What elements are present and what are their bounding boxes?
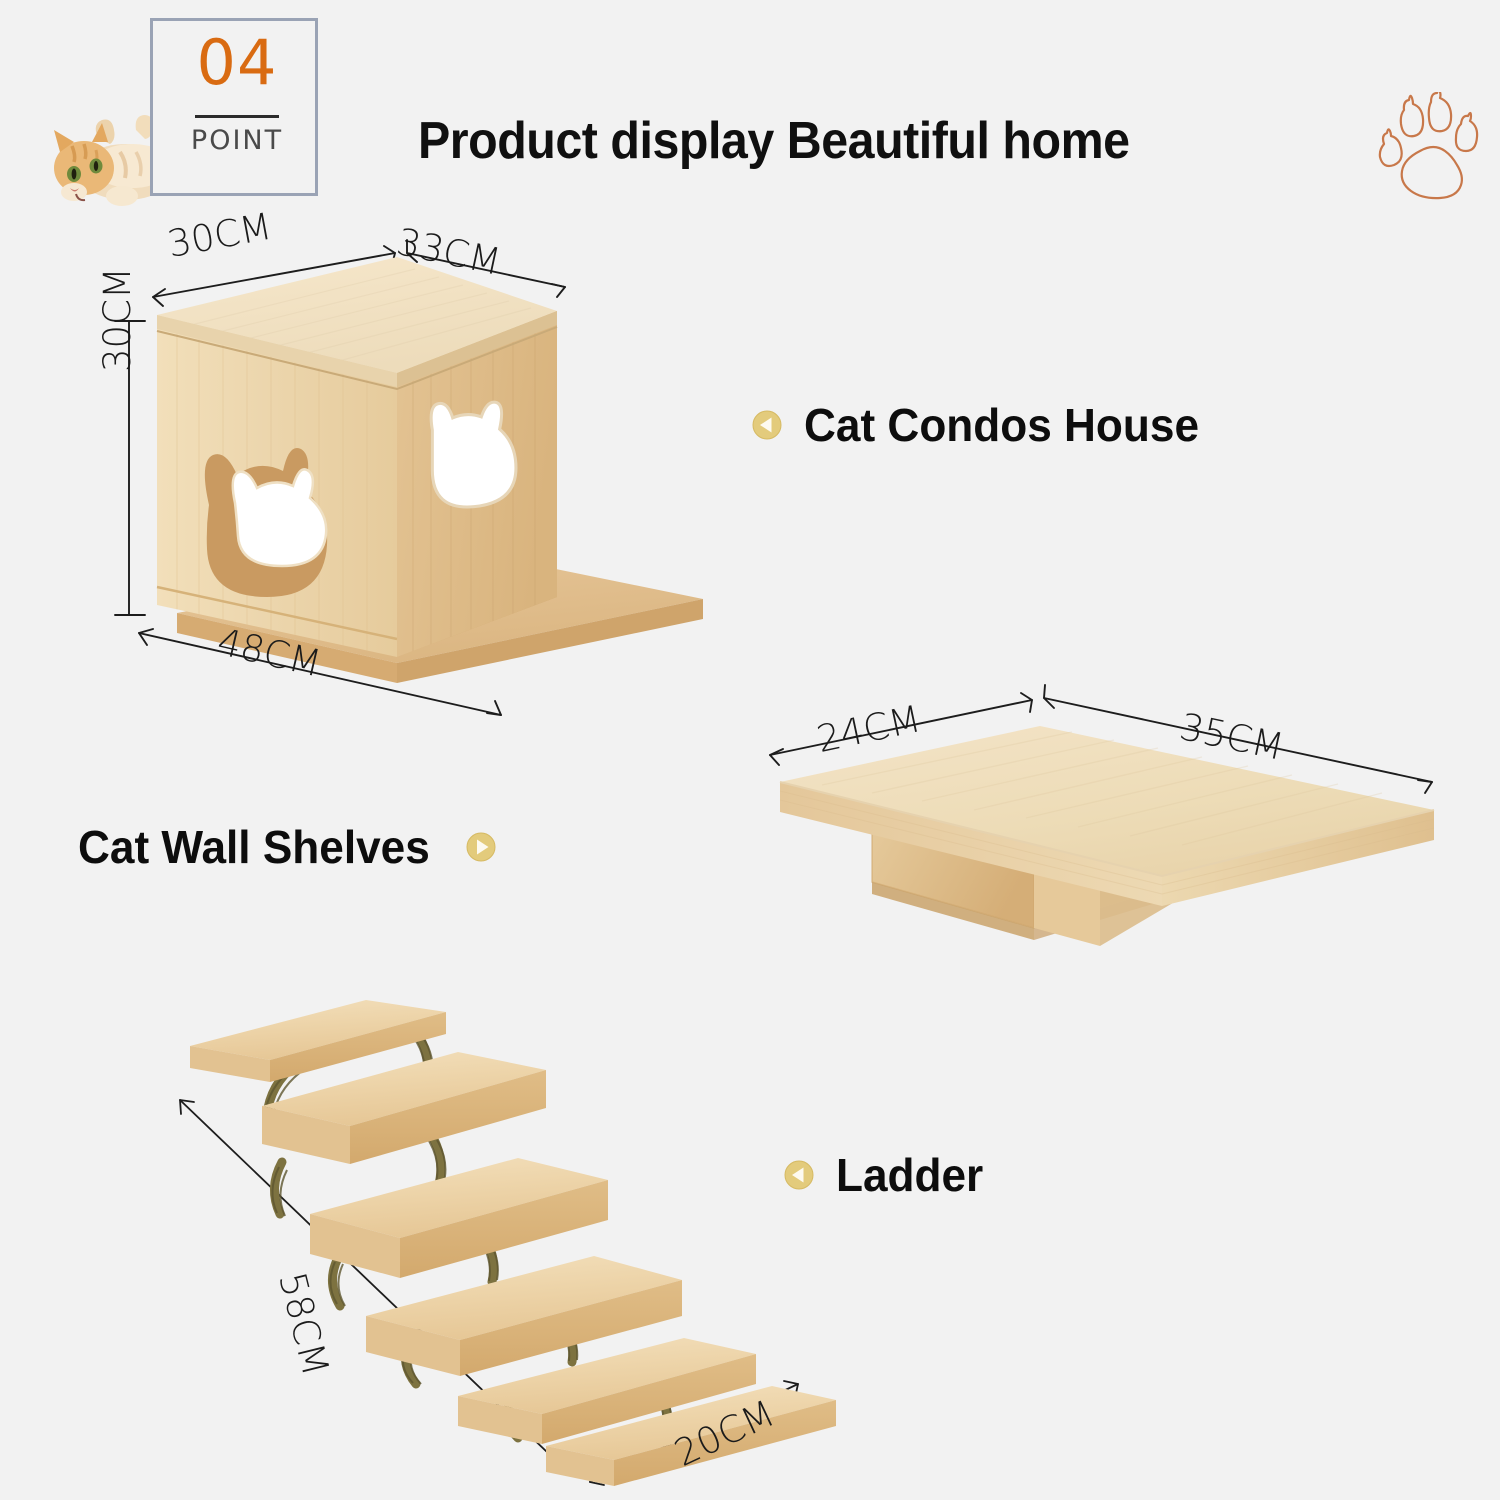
paw-print-icon	[1368, 92, 1490, 204]
cat-condos-house-illustration	[95, 225, 715, 735]
point-badge: 04 POINT	[40, 8, 330, 216]
dimension-house-height: 30CM	[96, 267, 139, 372]
point-badge-subtitle: POINT	[153, 125, 321, 156]
triangle-left-bullet-icon	[784, 1160, 814, 1190]
ladder-slat	[310, 1158, 608, 1278]
product-label-text: Ladder	[836, 1152, 983, 1198]
point-badge-frame: 04 POINT	[150, 18, 318, 196]
page-title: Product display Beautiful home	[418, 115, 1130, 167]
product-label-ladder: Ladder	[784, 1152, 989, 1198]
triangle-right-bullet-icon	[466, 832, 496, 862]
triangle-left-bullet-icon	[752, 410, 782, 440]
infographic-canvas: 04 POINT Product display Beautiful home	[0, 0, 1500, 1500]
point-badge-number: 04	[153, 27, 321, 98]
product-label-cat-condos-house: Cat Condos House	[752, 402, 1215, 448]
product-label-text: Cat Condos House	[804, 402, 1199, 448]
point-badge-divider	[195, 115, 279, 118]
product-label-cat-wall-shelves: Cat Wall Shelves	[78, 824, 496, 870]
product-label-text: Cat Wall Shelves	[78, 824, 430, 870]
cat-wall-shelves-illustration	[762, 660, 1452, 970]
